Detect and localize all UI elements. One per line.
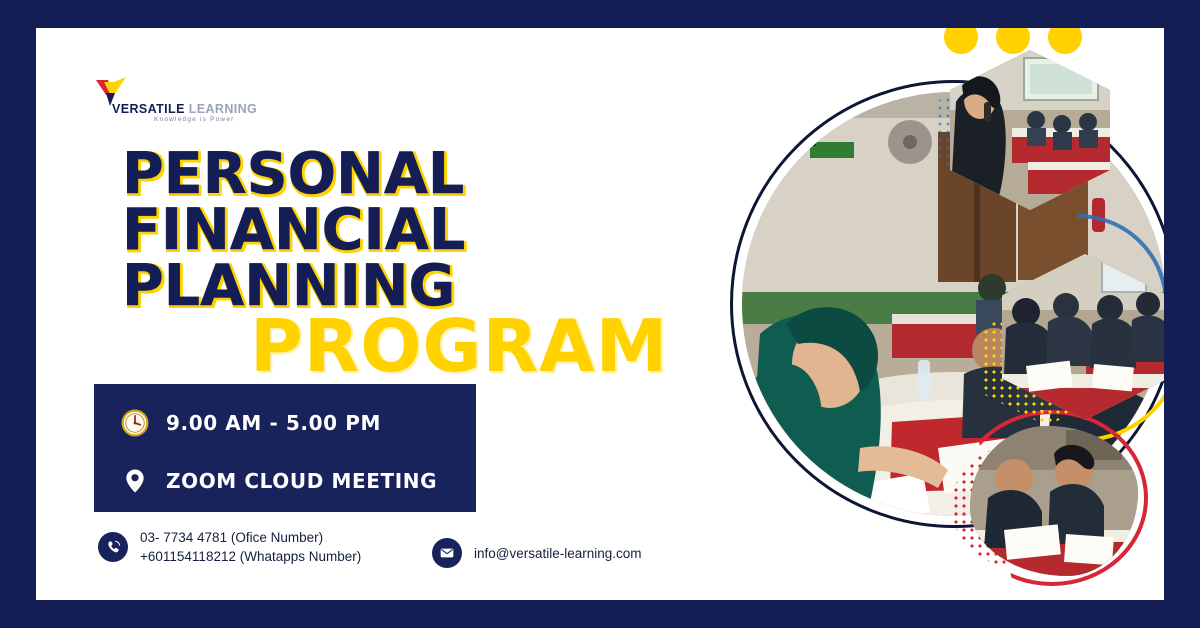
- envelope-icon: [432, 538, 462, 568]
- contact-email-text: info@versatile-learning.com: [474, 544, 642, 563]
- clock-icon: [118, 406, 152, 440]
- event-location-label: ZOOM CLOUD MEETING: [166, 469, 437, 493]
- brand-name-primary: VERSATILE: [112, 102, 185, 116]
- event-details-panel: 9.00 AM - 5.00 PM ZOOM CLOUD MEETING: [94, 384, 476, 512]
- brand-name-secondary: LEARNING: [185, 102, 257, 116]
- poster-card: VERSATILE LEARNING Knowledge is Power PE…: [36, 28, 1164, 600]
- contact-phone[interactable]: 03- 7734 4781 (Ofice Number) +6011541182…: [98, 528, 361, 566]
- map-pin-icon: [118, 464, 152, 498]
- event-time-label: 9.00 AM - 5.00 PM: [166, 411, 381, 435]
- headline-subtitle: PROGRAM: [250, 310, 668, 382]
- photo-collage: [644, 28, 1164, 600]
- brand-logo: VERSATILE LEARNING Knowledge is Power: [94, 74, 244, 136]
- event-time-row: 9.00 AM - 5.00 PM: [118, 406, 381, 440]
- contact-phone-text: 03- 7734 4781 (Ofice Number) +6011541182…: [140, 528, 361, 566]
- event-location-row: ZOOM CLOUD MEETING: [118, 464, 437, 498]
- brand-tagline: Knowledge is Power: [154, 116, 235, 123]
- blob-photo-pair: [970, 426, 1138, 576]
- contact-email[interactable]: info@versatile-learning.com: [432, 538, 642, 568]
- brand-name: VERSATILE LEARNING: [112, 102, 257, 116]
- decorative-dots-yellow: [944, 28, 1082, 54]
- phone-line-2: +601154118212 (Whatapps Number): [140, 549, 361, 564]
- poster-canvas: VERSATILE LEARNING Knowledge is Power PE…: [0, 0, 1200, 628]
- contact-bar: 03- 7734 4781 (Ofice Number) +6011541182…: [94, 528, 734, 578]
- phone-line-1: 03- 7734 4781 (Ofice Number): [140, 530, 323, 545]
- phone-icon: [98, 532, 128, 562]
